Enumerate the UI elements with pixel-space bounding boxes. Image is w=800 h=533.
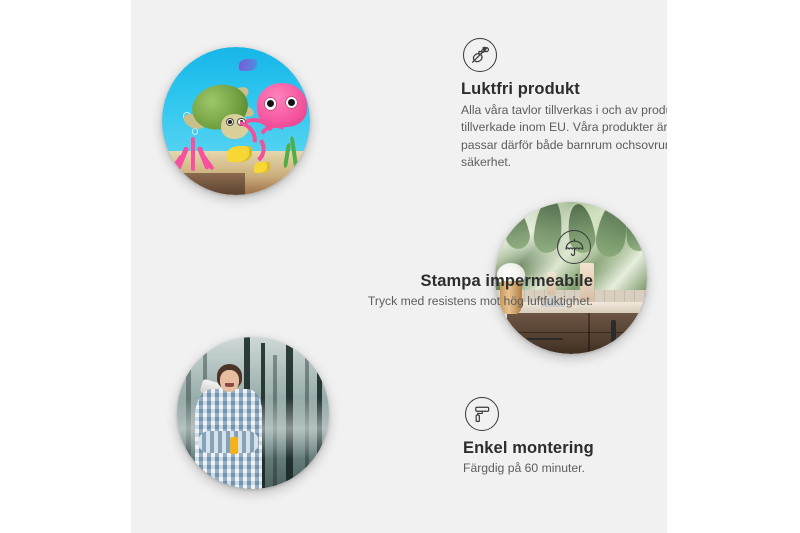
feature-title: Enkel montering [463,439,667,458]
no-spray-bottle-icon [463,38,497,72]
feature-title: Stampa impermeabile [311,272,593,291]
photo-forest-inner [177,337,329,489]
vanity-cabinet [507,313,647,354]
feature-odour-free: Luktfri produkt Alla våra tavlor tillver… [461,38,667,171]
person-smile [225,383,234,386]
coral-pink [174,133,212,171]
umbrella-icon [557,230,591,264]
feature-title: Luktfri produkt [461,80,667,99]
octopus-eye [264,97,277,110]
feature-easy-mounting: Enkel montering Färgdig på 60 minuter. [463,397,667,477]
hand-tool [230,437,238,454]
feature-body: Alla våra tavlor tillverkas i och av pro… [461,102,667,171]
feature-body: Färgdig på 60 minuter. [463,460,667,477]
person-face [220,370,240,391]
photo-ocean-nursery-mural [162,47,310,195]
fish-yellow [254,162,270,172]
fish-purple [239,59,257,71]
ocean-rock [168,173,245,195]
photo-forest-wallpaper-installer [177,337,329,489]
feature-body: Tryck med resistens mot hög luftfuktighe… [311,293,593,310]
content-canvas: Luktfri produkt Alla våra tavlor tillver… [131,0,667,533]
infographic-stage: Luktfri produkt Alla våra tavlor tillver… [0,0,800,533]
photo-ocean-inner [162,47,310,195]
person-arm [198,431,259,452]
feature-waterproof-print: Stampa impermeabile Tryck med resistens … [311,230,593,310]
paint-roller-icon [465,397,499,431]
